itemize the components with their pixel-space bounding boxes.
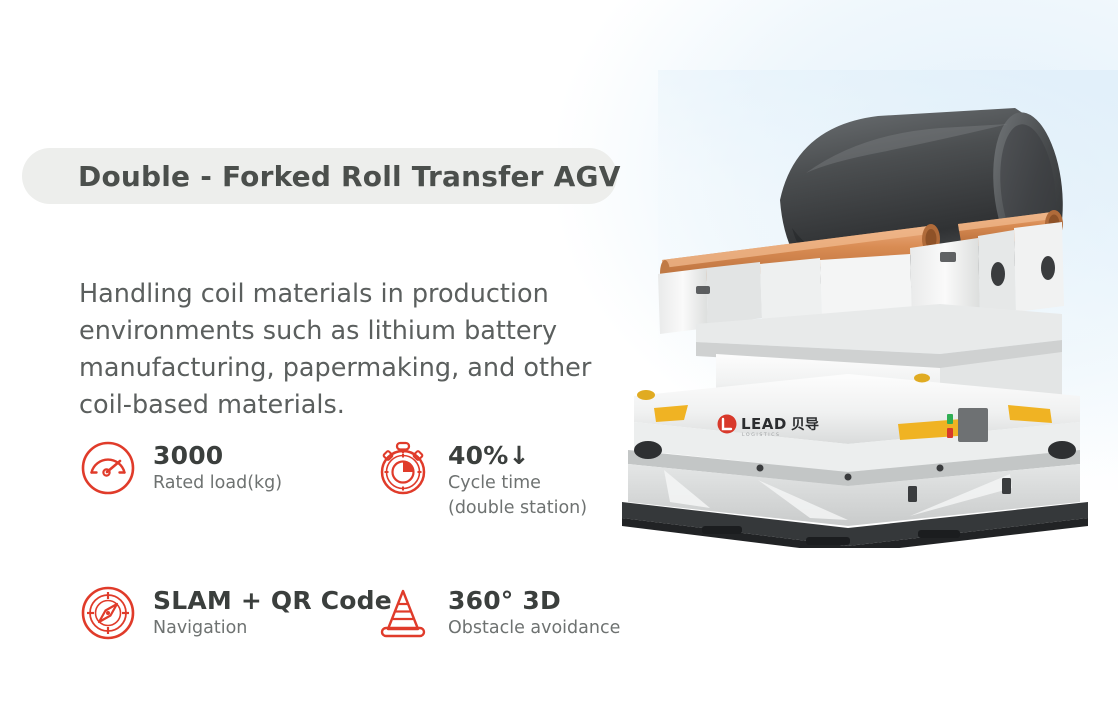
feature-rated-load: 3000 Rated load(kg) (79, 437, 374, 520)
feature-label: Rated load(kg) (153, 472, 282, 495)
feature-label: Obstacle avoidance (448, 617, 620, 640)
sensor-dome-right (1048, 441, 1076, 459)
feature-navigation: SLAM + QR Code Navigation (79, 582, 374, 642)
product-image-agv: LEAD 贝导 LOGISTICS (610, 78, 1110, 548)
traffic-cone-icon (374, 584, 432, 642)
feature-label-secondary: (double station) (448, 497, 587, 520)
feature-text: SLAM + QR Code Navigation (153, 582, 392, 640)
feature-label: Navigation (153, 617, 392, 640)
feature-value: SLAM + QR Code (153, 586, 392, 615)
feature-value: 3000 (153, 441, 282, 470)
product-spec-slide: Double - Forked Roll Transfer AGV Handli… (0, 0, 1118, 719)
feature-text: 360° 3D Obstacle avoidance (448, 582, 620, 640)
compass-icon (79, 584, 137, 642)
product-description: Handling coil materials in production en… (79, 276, 639, 424)
feature-obstacle-avoidance: 360° 3D Obstacle avoidance (374, 582, 674, 642)
feature-row-2: SLAM + QR Code Navigation 360° 3D (79, 582, 679, 642)
sensor-dome-left (634, 441, 662, 459)
feature-value: 40%↓ (448, 441, 587, 470)
feature-value: 360° 3D (448, 586, 620, 615)
feature-row-1: 3000 Rated load(kg) (79, 437, 679, 520)
page-title-badge: Double - Forked Roll Transfer AGV (22, 148, 617, 204)
feature-text: 40%↓ Cycle time (double station) (448, 437, 587, 520)
feature-label: Cycle time (448, 472, 587, 495)
stopwatch-icon (374, 439, 432, 497)
feature-grid: 3000 Rated load(kg) (79, 437, 679, 642)
svg-text:LEAD: LEAD (741, 415, 787, 433)
svg-text:贝导: 贝导 (791, 417, 819, 433)
feature-text: 3000 Rated load(kg) (153, 437, 282, 495)
svg-text:LOGISTICS: LOGISTICS (742, 432, 781, 438)
page-title: Double - Forked Roll Transfer AGV (78, 160, 621, 193)
feature-row-spacer (79, 520, 679, 582)
gauge-icon (79, 439, 137, 497)
